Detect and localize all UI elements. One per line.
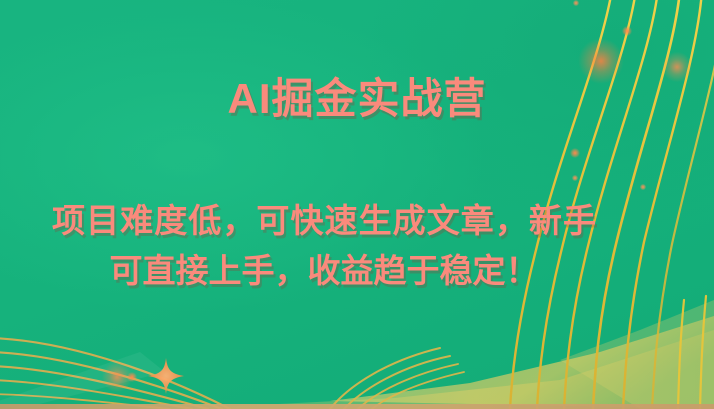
bottom-accent-band <box>0 404 714 409</box>
text-content: AI掘金实战营 项目难度低，可快速生成文章，新手可直接上手，收益趋于稳定！ <box>0 0 714 409</box>
banner-title: AI掘金实战营 <box>0 78 714 120</box>
banner-subtitle: 项目难度低，可快速生成文章，新手可直接上手，收益趋于稳定！ <box>52 196 596 296</box>
promo-banner: AI掘金实战营 项目难度低，可快速生成文章，新手可直接上手，收益趋于稳定！ <box>0 0 714 409</box>
banner-subtitle-text: 项目难度低，可快速生成文章，新手可直接上手，收益趋于稳定！ <box>52 202 596 289</box>
